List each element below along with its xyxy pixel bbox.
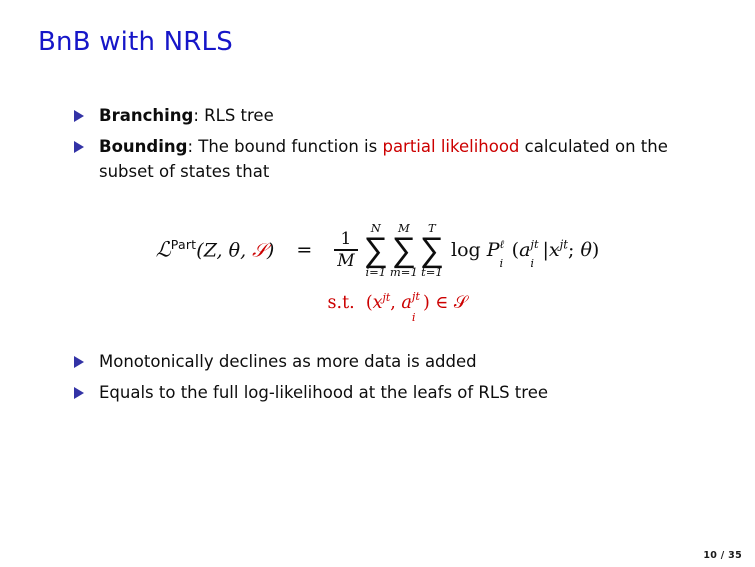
- probability-superscript: ℓ: [500, 239, 505, 251]
- sigma-icon: ∑: [364, 236, 388, 265]
- list-item-text: Equals to the full log-likelihood at the…: [99, 381, 548, 405]
- sum-lower-limit: t=1: [421, 266, 443, 279]
- fraction-numerator: 1: [338, 230, 355, 249]
- superscript-part: Part: [171, 237, 196, 252]
- highlighted-term: partial likelihood: [382, 137, 519, 156]
- bullet-list-top: Branching: RLS tree Bounding: The bound …: [74, 104, 684, 191]
- lhs-arguments: (Z, θ,: [196, 240, 252, 262]
- list-item-text: Branching: RLS tree: [99, 104, 274, 128]
- summation-over-m: M ∑ m=1: [390, 222, 418, 278]
- list-item-rest: The bound function is: [198, 137, 382, 156]
- constraint-comma: ,: [390, 293, 401, 313]
- probability-subscript: i: [500, 258, 504, 270]
- equals-sign: =: [296, 241, 312, 260]
- state-superscript: jt: [560, 237, 568, 251]
- theta-symbol: θ: [580, 239, 591, 261]
- constraint-action-symbol: a: [401, 293, 411, 313]
- list-item-text: Monotonically declines as more data is a…: [99, 350, 477, 374]
- equation-right-hand-side: 1 M N ∑ i=1 M ∑ m=1 T ∑ t=1: [334, 222, 599, 278]
- constraint-label: s.t.: [328, 293, 355, 313]
- list-item-separator: :: [187, 137, 198, 156]
- constraint-state-symbol: x: [373, 293, 383, 313]
- state-symbol: x: [549, 239, 560, 261]
- equation-main-line: ℒPart(Z, θ, 𝒮) = 1 M N ∑ i=1 M ∑ m=1: [0, 222, 755, 278]
- list-item-rest: RLS tree: [204, 106, 274, 125]
- sigma-icon: ∑: [392, 236, 416, 265]
- list-item-separator: :: [193, 106, 204, 125]
- script-l-symbol: ℒ: [156, 238, 171, 262]
- list-item: Branching: RLS tree: [74, 104, 684, 128]
- sigma-icon: ∑: [420, 236, 444, 265]
- probability-symbol: P: [487, 239, 500, 261]
- prob-close-paren: ): [592, 239, 599, 261]
- equation-constraint-line: s.t. (xjt, ajti ) ∈ 𝒮: [0, 293, 755, 313]
- page-number: 10 / 35: [703, 550, 742, 561]
- log-probability-term: log Pℓi (ajti |xjt; θ): [451, 241, 599, 260]
- action-subscript: i: [530, 258, 534, 270]
- sum-lower-limit: i=1: [365, 266, 386, 279]
- list-item: Equals to the full log-likelihood at the…: [74, 381, 684, 405]
- triangle-bullet-icon: [74, 110, 86, 122]
- prob-open-paren: (: [512, 239, 519, 261]
- triangle-bullet-icon: [74, 356, 86, 368]
- fraction-denominator: M: [334, 251, 357, 270]
- summation-over-t: T ∑ t=1: [420, 222, 444, 278]
- list-item: Monotonically declines as more data is a…: [74, 350, 684, 374]
- semicolon-separator: ;: [568, 239, 580, 261]
- constraint-action-subscript: i: [412, 310, 416, 324]
- sum-lower-limit: m=1: [390, 266, 418, 279]
- log-operator: log: [451, 239, 481, 261]
- constraint-open-paren: (: [366, 293, 373, 313]
- lhs-set-symbol: 𝒮: [252, 240, 267, 262]
- summation-over-i: N ∑ i=1: [364, 222, 388, 278]
- equation-left-hand-side: ℒPart(Z, θ, 𝒮): [156, 239, 275, 260]
- constraint-action-superscript: jt: [412, 289, 420, 303]
- presentation-slide: BnB with NRLS Branching: RLS tree Boundi…: [0, 0, 755, 567]
- triangle-bullet-icon: [74, 387, 86, 399]
- constraint-close-paren: ): [423, 293, 430, 313]
- lhs-close-paren: ): [267, 240, 274, 262]
- page-title: BnB with NRLS: [38, 28, 233, 58]
- fraction-one-over-m: 1 M: [334, 230, 357, 270]
- constraint-set-symbol: 𝒮: [454, 293, 468, 313]
- list-item-lead: Bounding: [99, 137, 187, 156]
- list-item-text: Bounding: The bound function is partial …: [99, 135, 684, 184]
- action-superscript: jt: [530, 239, 538, 251]
- list-item: Bounding: The bound function is partial …: [74, 135, 684, 184]
- element-of-symbol: ∈: [435, 293, 448, 313]
- triangle-bullet-icon: [74, 141, 86, 153]
- list-item-lead: Branching: [99, 106, 193, 125]
- equation-block: ℒPart(Z, θ, 𝒮) = 1 M N ∑ i=1 M ∑ m=1: [0, 222, 755, 313]
- action-symbol: a: [519, 239, 530, 261]
- bullet-list-bottom: Monotonically declines as more data is a…: [74, 350, 684, 413]
